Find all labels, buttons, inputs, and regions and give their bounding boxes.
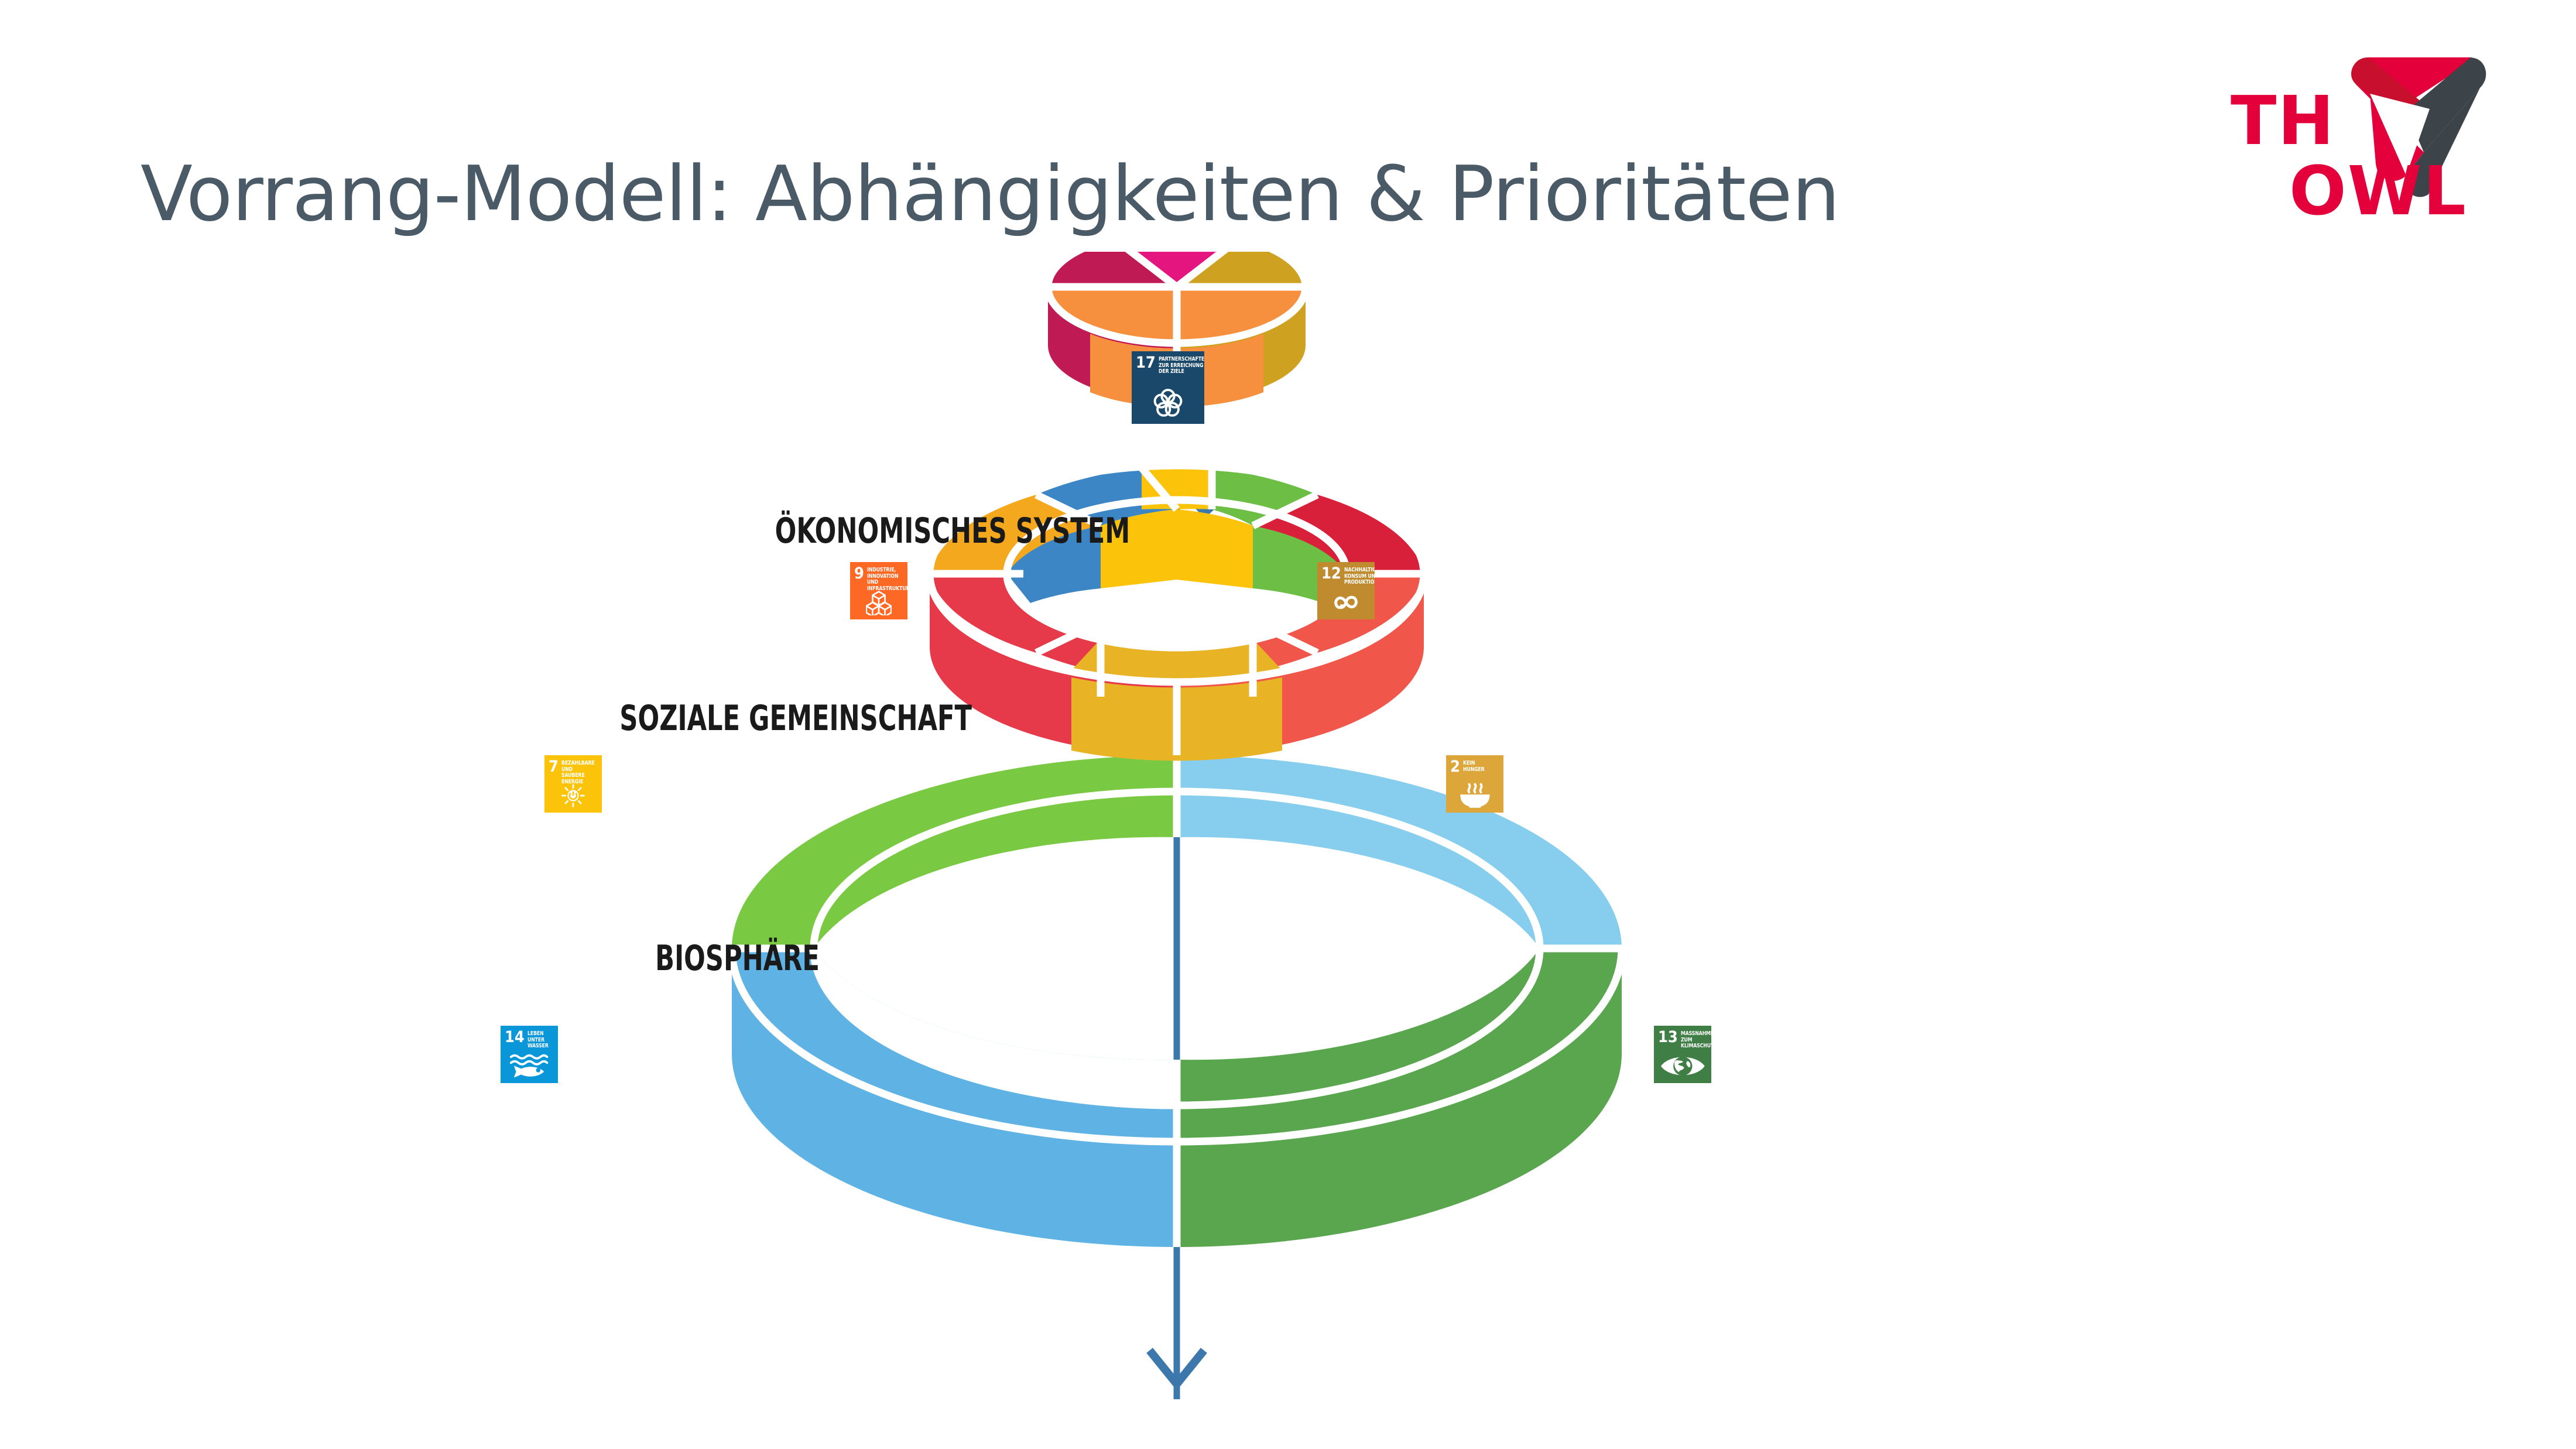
layer-label-economic: ÖKONOMISCHES SYSTEM bbox=[775, 511, 1130, 551]
cubes-icon bbox=[850, 590, 907, 616]
sdg-tile-2[interactable]: 2 KEIN HUNGER bbox=[1446, 755, 1503, 813]
th-owl-logo: TH OWL bbox=[2231, 41, 2488, 234]
logo-text-owl: OWL bbox=[2289, 158, 2467, 225]
sdg-title: LEBEN UNTER WASSER bbox=[527, 1030, 553, 1050]
sdg-title: KEIN HUNGER bbox=[1463, 760, 1498, 773]
page-title: Vorrang-Modell: Abhängigkeiten & Priorit… bbox=[141, 149, 1839, 238]
sdg-tile-12[interactable]: 12 NACHHALTIGE/R KONSUM UND PRODUKTION bbox=[1317, 562, 1375, 619]
sdg-number: 9 bbox=[854, 567, 864, 581]
sdg-wedding-cake-diagram bbox=[0, 252, 2576, 1399]
slide-canvas: Vorrang-Modell: Abhängigkeiten & Priorit… bbox=[0, 0, 2576, 1449]
layer-label-biosphere: BIOSPHÄRE bbox=[655, 938, 820, 979]
sdg-tile-14[interactable]: 14 LEBEN UNTER WASSER bbox=[501, 1026, 558, 1083]
sdg-title: INDUSTRIE, INNOVATION UND INFRASTRUKTUR bbox=[867, 567, 907, 592]
earth-eye-icon bbox=[1654, 1053, 1711, 1080]
sdg-number: 13 bbox=[1658, 1030, 1678, 1045]
infinity-icon bbox=[1317, 590, 1375, 616]
sdg-number: 7 bbox=[549, 760, 559, 775]
logo-text-th: TH bbox=[2231, 88, 2335, 155]
sdg-title: BEZAHLBARE UND SAUBERE ENERGIE bbox=[561, 760, 596, 786]
sdg-title: MASSNAHMEN ZUM KLIMASCHUTZ bbox=[1681, 1030, 1711, 1050]
sdg-number: 12 bbox=[1321, 567, 1341, 581]
sun-power-icon bbox=[544, 783, 602, 810]
layer-label-social: SOZIALE GEMEINSCHAFT bbox=[619, 698, 972, 739]
fish-waves-icon bbox=[501, 1053, 558, 1080]
sdg-tile-9[interactable]: 9 INDUSTRIE, INNOVATION UND INFRASTRUKTU… bbox=[850, 562, 907, 619]
sdg-number: 14 bbox=[505, 1030, 525, 1045]
sdg-tile-7[interactable]: 7 BEZAHLBARE UND SAUBERE ENERGIE bbox=[544, 755, 602, 813]
partnership-circles-icon bbox=[1132, 387, 1204, 421]
sdg-title: PARTNERSCHAFTEN ZUR ERREICHUNG DER ZIELE bbox=[1159, 356, 1204, 375]
sdg-title: NACHHALTIGE/R KONSUM UND PRODUKTION bbox=[1344, 567, 1375, 586]
sdg-tile-17[interactable]: 17 PARTNERSCHAFTEN ZUR ERREICHUNG DER ZI… bbox=[1132, 351, 1204, 424]
steaming-bowl-icon bbox=[1446, 783, 1503, 810]
sdg-number: 17 bbox=[1136, 356, 1156, 371]
sdg-number: 2 bbox=[1450, 760, 1460, 775]
sdg-tile-13[interactable]: 13 MASSNAHMEN ZUM KLIMASCHUTZ bbox=[1654, 1026, 1711, 1083]
